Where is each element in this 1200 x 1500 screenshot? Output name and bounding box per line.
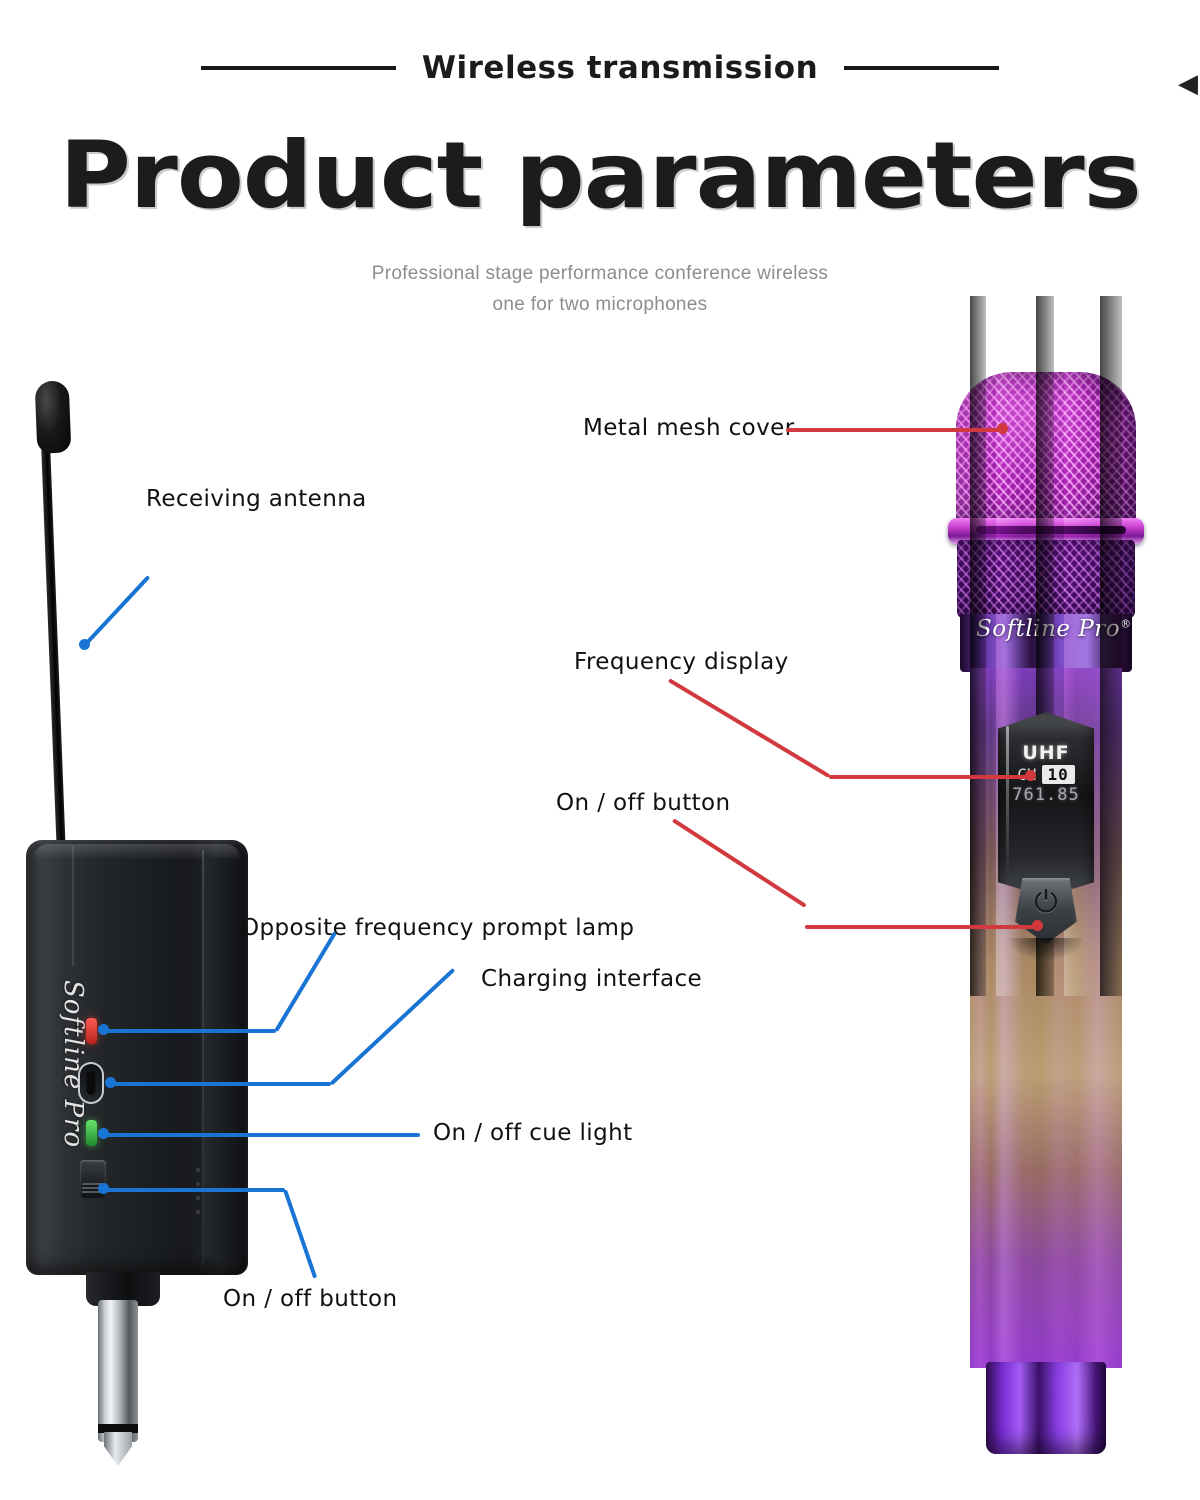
callout-on-off-button-receiver: On / off button bbox=[223, 1286, 398, 1312]
mic-edge-shade-left bbox=[970, 296, 986, 996]
frequency-value: 761.85 bbox=[1000, 785, 1092, 805]
leader-line-antenna bbox=[83, 575, 151, 647]
leader-dot-cue-light bbox=[98, 1128, 109, 1139]
mic-end-cap bbox=[986, 1362, 1106, 1454]
green-led-icon bbox=[86, 1120, 97, 1146]
receiving-antenna-whip bbox=[40, 418, 66, 858]
power-button-shadow bbox=[1008, 938, 1084, 960]
antenna-tip-icon bbox=[35, 380, 72, 453]
receiver-vent-dot bbox=[196, 1182, 200, 1186]
leader-line-power-h bbox=[805, 925, 1037, 929]
leader-line-onoff-d bbox=[283, 1189, 317, 1278]
eyebrow-label: Wireless transmission bbox=[422, 50, 818, 86]
receiver-seam-left bbox=[72, 846, 74, 966]
callout-on-off-cue-light: On / off cue light bbox=[433, 1120, 633, 1146]
receiver-vent-dot bbox=[196, 1210, 200, 1214]
callout-frequency-display: Frequency display bbox=[574, 649, 789, 675]
leader-dot-freq bbox=[1025, 770, 1036, 781]
eyebrow-rule-right bbox=[844, 66, 999, 70]
frequency-display: UHF CH 10 761.85 bbox=[1000, 742, 1092, 805]
leader-line-onoff-h bbox=[103, 1188, 285, 1192]
left-chevron-icon: ◀ bbox=[1178, 70, 1198, 96]
plug-tip-icon bbox=[104, 1432, 132, 1466]
usb-c-icon[interactable] bbox=[78, 1062, 104, 1104]
leader-line-mesh-cover bbox=[786, 428, 1003, 432]
band-label: UHF bbox=[1000, 742, 1092, 764]
callout-receiving-antenna: Receiving antenna bbox=[146, 486, 367, 512]
callout-on-off-button-mic: On / off button bbox=[556, 790, 731, 816]
receiver-vent-dot bbox=[196, 1168, 200, 1172]
leader-dot-mesh-cover bbox=[997, 423, 1008, 434]
plug-insulator-ring bbox=[98, 1424, 138, 1433]
red-led-icon bbox=[86, 1018, 97, 1044]
mic-edge-shade-right bbox=[1100, 296, 1122, 996]
callout-charging-interface: Charging interface bbox=[481, 966, 702, 992]
leader-line-charging-h bbox=[110, 1082, 331, 1086]
leader-line-lamp-h bbox=[103, 1029, 276, 1033]
leader-line-charging-d bbox=[330, 968, 456, 1086]
receiver-vent-dot bbox=[196, 1196, 200, 1200]
product-parameters-page: Wireless transmission Product parameters… bbox=[0, 0, 1200, 1500]
leader-line-freq-d bbox=[668, 678, 830, 778]
leader-line-power-d bbox=[672, 818, 807, 907]
page-title: Product parameters bbox=[0, 130, 1200, 222]
power-symbol-icon: ⏻ bbox=[1015, 888, 1077, 918]
channel-value: 10 bbox=[1042, 765, 1075, 784]
eyebrow-rule-left bbox=[201, 66, 396, 70]
callout-opposite-frequency-lamp: Opposite frequency prompt lamp bbox=[241, 915, 634, 941]
callout-metal-mesh-cover: Metal mesh cover bbox=[583, 415, 795, 441]
leader-line-freq-h bbox=[829, 775, 1030, 779]
leader-line-cue-light bbox=[103, 1133, 420, 1137]
receiver-side-panel bbox=[204, 858, 244, 1258]
receiver-seam-right bbox=[202, 850, 204, 1265]
leader-dot-onoff bbox=[98, 1183, 109, 1194]
leader-line-lamp-d bbox=[274, 931, 337, 1032]
leader-dot-charging bbox=[105, 1077, 116, 1088]
quarter-inch-plug-shaft bbox=[98, 1300, 138, 1442]
leader-dot-lamp bbox=[98, 1024, 109, 1035]
subtitle-line-1: Professional stage performance conferenc… bbox=[0, 258, 1200, 289]
leader-dot-antenna bbox=[79, 639, 90, 650]
leader-dot-power bbox=[1032, 920, 1043, 931]
eyebrow-header: Wireless transmission bbox=[0, 50, 1200, 86]
